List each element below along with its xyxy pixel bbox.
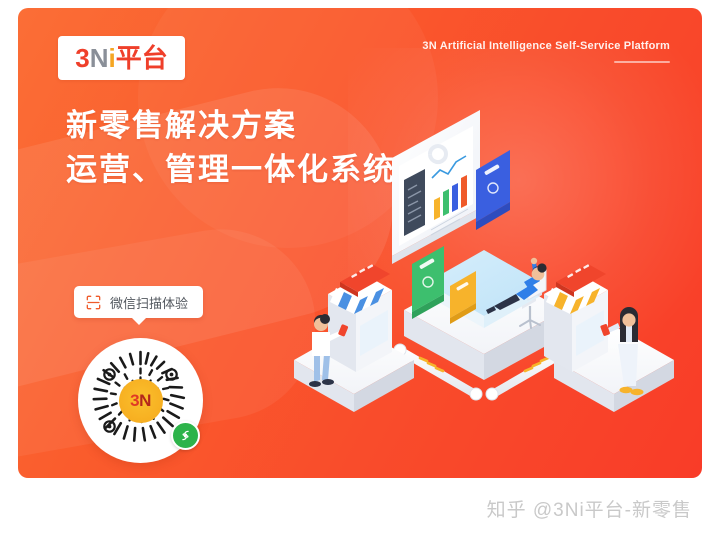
scan-callout-label: 微信扫描体验: [110, 293, 188, 312]
tagline-underline: [614, 61, 670, 63]
logo-char-3: 3: [75, 43, 89, 73]
scan-callout[interactable]: 微信扫描体验: [74, 286, 203, 318]
poster-page: 3Ni平台 3N Artificial Intelligence Self-Se…: [0, 0, 720, 536]
isometric-illustration: [284, 104, 702, 434]
promo-banner: 3Ni平台 3N Artificial Intelligence Self-Se…: [18, 8, 702, 478]
analytics-dashboard-screen: [392, 110, 480, 264]
logo-chars-cn: 平台: [116, 43, 168, 73]
left-kiosk-store: [328, 264, 392, 372]
right-kiosk-store: [544, 264, 608, 372]
qr-logo-char-n: N: [139, 391, 151, 410]
brand-logo[interactable]: 3Ni平台: [58, 36, 185, 80]
english-tagline: 3N Artificial Intelligence Self-Service …: [422, 40, 670, 63]
qr-logo-char-3: 3: [130, 391, 139, 410]
wechat-mini-program-badge: [171, 421, 200, 450]
logo-char-n: N: [90, 43, 109, 73]
wechat-qr-code[interactable]: 3N: [78, 338, 203, 463]
qr-center-logo-text: 3N: [130, 392, 151, 409]
scan-frame-icon: [86, 295, 101, 310]
floating-card-blue: [476, 150, 510, 230]
logo-char-i: i: [109, 43, 116, 73]
english-tagline-text: 3N Artificial Intelligence Self-Service …: [422, 40, 670, 52]
qr-center-logo: 3N: [119, 379, 163, 423]
zhihu-watermark: 知乎 @3Ni平台-新零售: [487, 495, 692, 522]
brand-logo-text: 3Ni平台: [75, 45, 168, 71]
